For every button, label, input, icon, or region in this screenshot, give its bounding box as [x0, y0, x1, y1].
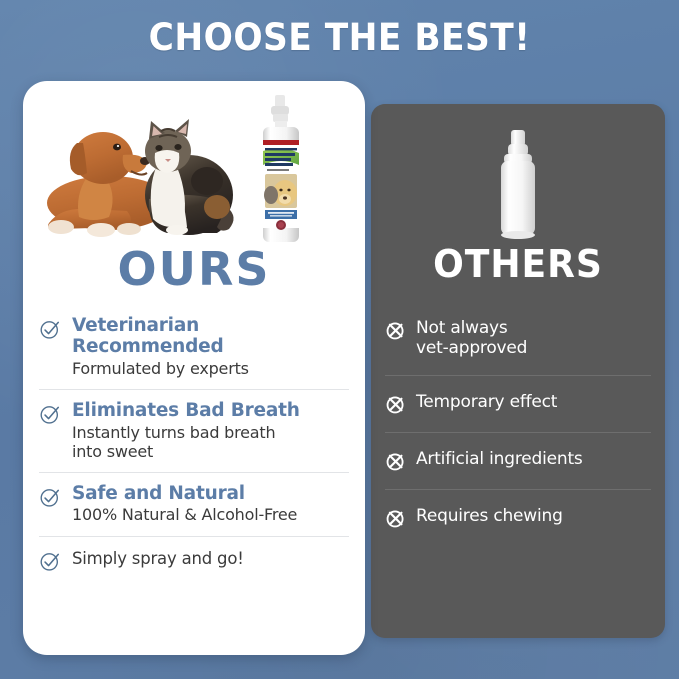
- list-item-label: Simply spray and go!: [72, 547, 349, 569]
- cross-circle-icon: [385, 394, 406, 415]
- page-title: CHOOSE THE BEST!: [24, 18, 655, 59]
- ours-panel: OURS Veterinarian Recommended Formulated…: [23, 81, 365, 655]
- cross-circle-icon: [385, 451, 406, 472]
- ours-hero: [23, 81, 365, 246]
- list-item-title: Veterinarian Recommended: [72, 315, 349, 358]
- list-item-subtitle: Formulated by experts: [72, 359, 349, 378]
- list-item: Temporary effect: [371, 375, 665, 432]
- check-circle-icon: [39, 550, 61, 572]
- list-item: Simply spray and go!: [23, 536, 365, 583]
- ours-feature-list: Veterinarian Recommended Formulated by e…: [23, 305, 365, 583]
- dog-and-cat-photo: [31, 103, 246, 243]
- ours-heading: OURS: [23, 246, 365, 292]
- comparison-infographic: CHOOSE THE BEST!: [0, 0, 679, 679]
- others-feature-list: Not always vet-approved Temporary effect: [371, 302, 665, 546]
- list-item-subtitle: Instantly turns bad breath into sweet: [72, 423, 349, 461]
- check-circle-icon: [39, 486, 61, 508]
- list-item: Requires chewing: [371, 489, 665, 546]
- cross-circle-icon: [385, 508, 406, 529]
- list-item-label: Temporary effect: [416, 392, 651, 412]
- dental-spray-bottle-icon: [255, 95, 307, 247]
- list-item: Safe and Natural 100% Natural & Alcohol-…: [23, 472, 365, 536]
- blank-white-bottle-icon: [494, 130, 542, 242]
- others-panel: OTHERS Not always vet-approved: [371, 104, 665, 638]
- list-item: Not always vet-approved: [371, 302, 665, 375]
- list-item-subtitle: 100% Natural & Alcohol-Free: [72, 505, 349, 524]
- list-item-label: Requires chewing: [416, 506, 651, 526]
- check-circle-icon: [39, 318, 61, 340]
- others-heading: OTHERS: [378, 245, 657, 283]
- cross-circle-icon: [385, 320, 406, 341]
- list-item-title: Eliminates Bad Breath: [72, 400, 349, 421]
- list-item-title: Safe and Natural: [72, 483, 349, 504]
- list-item-label: Not always vet-approved: [416, 318, 651, 358]
- list-item: Artificial ingredients: [371, 432, 665, 489]
- list-item-label: Artificial ingredients: [416, 449, 651, 469]
- check-circle-icon: [39, 403, 61, 425]
- list-item: Veterinarian Recommended Formulated by e…: [23, 305, 365, 389]
- list-item: Eliminates Bad Breath Instantly turns ba…: [23, 389, 365, 472]
